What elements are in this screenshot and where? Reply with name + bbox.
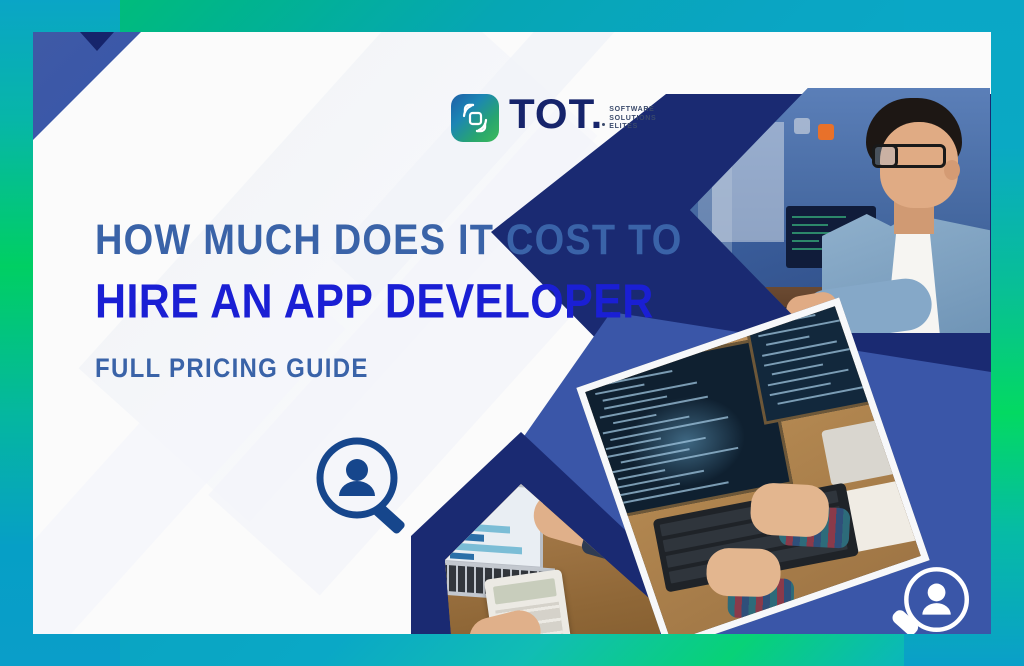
headline-block: HOW MUCH DOES IT COST TO HIRE AN APP DEV… [95,217,683,323]
tagline-line-1: SOFTWARE [609,106,656,115]
brand-name: TOT. [509,94,603,134]
headline-line-1: HOW MUCH DOES IT COST TO [95,217,683,264]
hands-typing-code-photo-frame [588,309,918,634]
headline-line-2: HIRE AN APP DEVELOPER [95,275,683,329]
brand-tagline: SOFTWARE SOLUTIONS ELITES [609,106,656,132]
tot-logo-icon [451,94,499,142]
magnifier-person-icon [309,434,417,542]
corner-triangle-decoration [33,32,141,140]
brand-period: . [591,90,604,137]
brand-logo: TOT. SOFTWARE SOLUTIONS ELITES [451,94,656,142]
poster-canvas: TOT. SOFTWARE SOLUTIONS ELITES HOW MUCH … [0,0,1024,666]
tagline-line-3: ELITES [609,123,656,132]
tagline-bullet-icon [602,123,605,126]
headline-subtitle: FULL PRICING GUIDE [95,354,369,385]
content-card: TOT. SOFTWARE SOLUTIONS ELITES HOW MUCH … [33,32,991,634]
tagline-line-2: SOLUTIONS [609,115,656,124]
hands-typing-code-photo [576,297,929,634]
magnifier-person-icon [885,564,981,634]
